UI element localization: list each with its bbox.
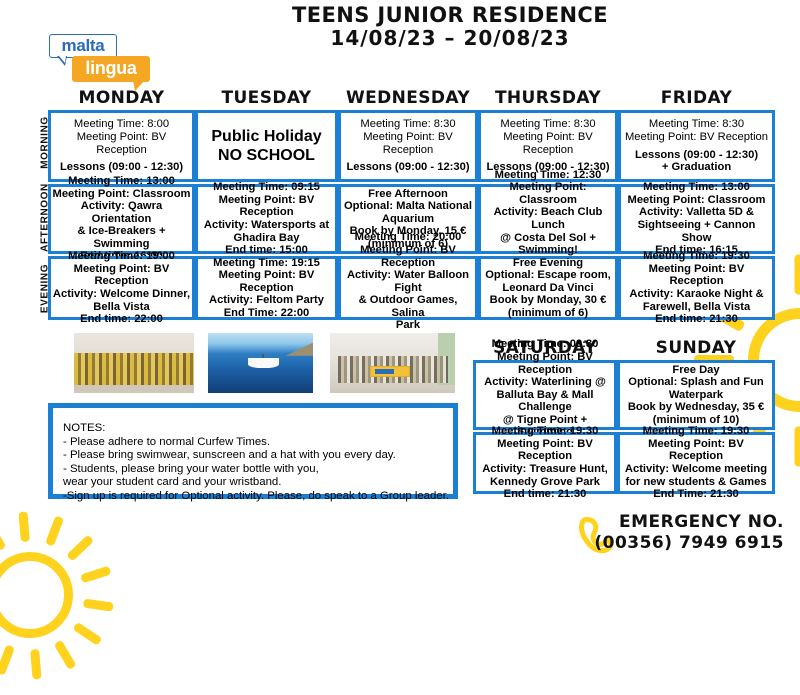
cell-text: Meeting Time: 09:15Meeting Point: BV Rec… xyxy=(198,181,335,257)
cell-saturday-day: Meeting Time: 09:30Meeting Point: BV Rec… xyxy=(473,360,617,430)
cell-line: Lessons (09:00 - 12:30) xyxy=(52,161,191,174)
cell-line: Park xyxy=(342,319,474,332)
cell-line: Meeting Point: BV Reception xyxy=(52,263,191,288)
cell-line: Book by Monday, 30 € xyxy=(482,294,614,307)
cell-line: Book by Wednesday, 35 € xyxy=(621,401,771,414)
notes-line: - Students, please bring your water bott… xyxy=(63,463,453,477)
cell-line: Optional: Malta National xyxy=(342,200,474,213)
cell-line: Meeting Point: BV Reception xyxy=(622,263,771,288)
cell-monday-morning: Meeting Time: 8:00Meeting Point: BV Rece… xyxy=(48,110,195,182)
cell-line: Meeting Time: 19:15 xyxy=(199,257,334,270)
photo-detail xyxy=(370,366,410,378)
cell-line: Swimming! xyxy=(482,244,614,257)
cell-text: Meeting Time: 8:30Meeting Point: BV Rece… xyxy=(621,118,772,173)
cell-line: Activity: Water Balloon Fight xyxy=(342,269,474,294)
cell-line: Activity: Welcome Dinner, xyxy=(52,288,191,301)
cell-line: Meeting Point: BV Reception xyxy=(199,269,334,294)
cell-line: Meeting Point: BV Reception xyxy=(477,351,613,376)
cell-line: Meeting Point: Classroom xyxy=(52,188,191,201)
cell-line: Activity: Watersports at xyxy=(199,219,334,232)
cell-line: @ Costa Del Sol + xyxy=(482,232,614,245)
sun-ray xyxy=(18,511,30,542)
cell-text: Free DayOptional: Splash and FunWaterpar… xyxy=(620,364,772,427)
cell-line: Meeting Time: 8:30 xyxy=(342,118,474,131)
cell-line: End time: 15:00 xyxy=(199,244,334,257)
day-header-wednesday: WEDNESDAY xyxy=(338,88,478,108)
cell-line: End time: 21:30 xyxy=(477,488,613,501)
cell-line: End time: 21:30 xyxy=(622,313,771,326)
cell-line: Activity: Feltom Party xyxy=(199,294,334,307)
cell-line: Meeting Time: 19:30 xyxy=(621,425,771,438)
cell-thursday-evening: Free EveningOptional: Escape room,Leonar… xyxy=(478,256,618,320)
sun-ray xyxy=(795,254,800,294)
cell-line: Meeting Time: 09:15 xyxy=(199,181,334,194)
emergency-label: EMERGENCY NO. xyxy=(594,512,784,533)
cell-line: Meeting Point: Classroom xyxy=(482,181,614,206)
cell-line: Meeting Point: BV Reception xyxy=(199,194,334,219)
cell-line: End time: 22:00 xyxy=(52,313,191,326)
logo-text-lingua: lingua xyxy=(72,56,150,81)
cell-wednesday-morning: Meeting Time: 8:30Meeting Point: BV Rece… xyxy=(338,110,478,182)
cell-line: Meeting Point: BV Reception xyxy=(477,438,613,463)
cell-line: Lessons (09:00 - 12:30) xyxy=(622,149,771,162)
notes-line: -Sign up is required for Optional activi… xyxy=(63,490,453,504)
photo-group-yellow-shirts xyxy=(74,333,194,393)
logo-text-malta: malta xyxy=(50,35,116,57)
photo-group-banner xyxy=(330,333,455,393)
cell-line: Meeting Time: 8:30 xyxy=(622,118,771,131)
cell-text: Meeting Time: 8:30Meeting Point: BV Rece… xyxy=(341,118,475,173)
cell-line: Optional: Escape room, xyxy=(482,269,614,282)
sun-ray xyxy=(0,644,15,675)
sun-ray xyxy=(795,426,800,466)
cell-monday-afternoon: Meeting Time: 13:00Meeting Point: Classr… xyxy=(48,184,195,254)
photo-boat-sea xyxy=(208,333,313,393)
cell-text: Public HolidayNO SCHOOL xyxy=(198,127,335,165)
day-header-monday: MONDAY xyxy=(48,88,195,108)
cell-text: Meeting Time: 19:30Meeting Point: BV Rec… xyxy=(476,425,614,501)
cell-sunday-evening: Meeting Time: 19:30Meeting Point: BV Rec… xyxy=(617,432,775,494)
cell-line: Free Evening xyxy=(482,257,614,270)
cell-text: Meeting Time: 19:15Meeting Point: BV Rec… xyxy=(198,257,335,320)
cell-text: Meeting Time: 19:00Meeting Point: BV Rec… xyxy=(51,250,192,326)
cell-friday-evening: Meeting Time: 19:30Meeting Point: BV Rec… xyxy=(618,256,775,320)
cell-friday-morning: Meeting Time: 8:30Meeting Point: BV Rece… xyxy=(618,110,775,182)
day-header-friday: FRIDAY xyxy=(618,88,775,108)
cell-tuesday-evening: Meeting Time: 19:15Meeting Point: BV Rec… xyxy=(195,256,338,320)
cell-line: Meeting Time: 8:30 xyxy=(482,118,614,131)
notes-content: NOTES: - Please adhere to normal Curfew … xyxy=(53,408,453,504)
cell-line: Activity: Waterlining @ xyxy=(477,376,613,389)
cell-line: for new students & Games xyxy=(621,476,771,489)
cell-text: Meeting Time: 13:00Meeting Point: Classr… xyxy=(621,181,772,257)
cell-text: Meeting Time: 19:30Meeting Point: BV Rec… xyxy=(621,250,772,326)
cell-line: Meeting Point: BV Reception xyxy=(342,131,474,156)
cell-line: + Graduation xyxy=(622,161,771,174)
logo-bubble-malta: malta xyxy=(49,34,117,58)
photo-detail xyxy=(286,343,313,356)
notes-line: - Please adhere to normal Curfew Times. xyxy=(63,436,453,450)
cell-line: Meeting Point: Classroom xyxy=(622,194,771,207)
cell-line: NO SCHOOL xyxy=(199,146,334,165)
cell-line: Aquarium xyxy=(342,213,474,226)
cell-tuesday-morning: Public HolidayNO SCHOOL xyxy=(195,110,338,182)
sun-ray xyxy=(80,565,111,583)
cell-line: Meeting Time: 20:00 xyxy=(342,231,474,244)
cell-line: Meeting Time: 12:30 xyxy=(482,169,614,182)
cell-friday-afternoon: Meeting Time: 13:00Meeting Point: Classr… xyxy=(618,184,775,254)
cell-saturday-evening: Meeting Time: 19:30Meeting Point: BV Rec… xyxy=(473,432,617,494)
day-header-sunday: SUNDAY xyxy=(617,338,775,358)
title-line-1: TEENS JUNIOR RESIDENCE xyxy=(240,4,660,27)
cell-line: Meeting Time: 19:30 xyxy=(477,425,613,438)
title-line-2: 14/08/23 – 20/08/23 xyxy=(240,27,660,50)
sun-ray xyxy=(66,534,94,561)
photo-detail xyxy=(74,353,194,384)
sun-ray xyxy=(30,648,42,679)
cell-line: (minimum of 6) xyxy=(482,307,614,320)
cell-text: Meeting Time: 19:30Meeting Point: BV Rec… xyxy=(620,425,772,501)
cell-line: Optional: Splash and Fun xyxy=(621,376,771,389)
cell-line: Lessons (09:00 - 12:30) xyxy=(342,161,474,174)
cell-line: Free Afternoon xyxy=(342,188,474,201)
cell-line: Public Holiday xyxy=(199,127,334,146)
cell-text: Meeting Time: 20:00Meeting Point: BV Rec… xyxy=(341,231,475,344)
sun-ray xyxy=(54,639,77,669)
cell-line: Meeting Time: 19:00 xyxy=(52,250,191,263)
sun-ray xyxy=(72,621,102,645)
cell-line: Activity: Qawra Orientation xyxy=(52,200,191,225)
malta-lingua-logo: malta lingua xyxy=(45,34,149,86)
cell-line: Free Day xyxy=(621,364,771,377)
cell-line: Meeting Time: 13:00 xyxy=(622,181,771,194)
cell-line: Activity: Valletta 5D & xyxy=(622,206,771,219)
logo-tail-blue-inner xyxy=(59,56,66,63)
photo-detail xyxy=(248,358,280,368)
sun-icon-left xyxy=(0,495,130,695)
cell-line: Leonard Da Vinci xyxy=(482,282,614,295)
cell-tuesday-afternoon: Meeting Time: 09:15Meeting Point: BV Rec… xyxy=(195,184,338,254)
cell-line: Bella Vista xyxy=(52,301,191,314)
day-header-thursday: THURSDAY xyxy=(478,88,618,108)
emergency-number: (00356) 7949 6915 xyxy=(594,533,784,554)
day-header-tuesday: TUESDAY xyxy=(195,88,338,108)
emergency-block: EMERGENCY NO. (00356) 7949 6915 xyxy=(594,512,784,554)
logo-bubble-lingua: lingua xyxy=(72,56,150,82)
cell-line: Activity: Treasure Hunt, xyxy=(477,463,613,476)
cell-wednesday-evening: Meeting Time: 20:00Meeting Point: BV Rec… xyxy=(338,256,478,320)
notes-box: NOTES: - Please adhere to normal Curfew … xyxy=(48,403,458,499)
cell-line: Meeting Point: BV Reception xyxy=(621,438,771,463)
cell-thursday-afternoon: Meeting Time: 12:30Meeting Point: Classr… xyxy=(478,184,618,254)
cell-line: Meeting Point: BV Reception xyxy=(622,131,771,144)
cell-monday-evening: Meeting Time: 19:00Meeting Point: BV Rec… xyxy=(48,256,195,320)
cell-line: & Ice-Breakers + Swimming xyxy=(52,225,191,250)
cell-line: Meeting Time: 13:00 xyxy=(52,175,191,188)
cell-text: Meeting Time: 12:30Meeting Point: Classr… xyxy=(481,169,615,270)
cell-line: Farewell, Bella Vista xyxy=(622,301,771,314)
sun-ray xyxy=(0,520,6,550)
cell-line: Activity: Welcome meeting xyxy=(621,463,771,476)
cell-line: Meeting Time: 09:30 xyxy=(477,338,613,351)
cell-line: & Outdoor Games, Salina xyxy=(342,294,474,319)
cell-text: Free EveningOptional: Escape room,Leonar… xyxy=(481,257,615,320)
photo-detail xyxy=(74,385,194,393)
cell-line: Meeting Point: BV Reception xyxy=(342,244,474,269)
cell-line: Balluta Bay & Mall Challenge xyxy=(477,389,613,414)
cell-line: Sightseeing + Cannon Show xyxy=(622,219,771,244)
cell-line: Meeting Time: 19:30 xyxy=(622,250,771,263)
cell-line: Kennedy Grove Park xyxy=(477,476,613,489)
cell-line: Meeting Point: BV Reception xyxy=(52,131,191,156)
cell-line: End Time: 21:30 xyxy=(621,488,771,501)
cell-text: Meeting Time: 8:00Meeting Point: BV Rece… xyxy=(51,118,192,173)
sun-ray xyxy=(83,598,114,611)
cell-line: Activity: Karaoke Night & xyxy=(622,288,771,301)
sun-core xyxy=(0,552,73,638)
notes-line: - Please bring swimwear, sunscreen and a… xyxy=(63,449,453,463)
cell-text: Meeting Time: 8:30Meeting Point: BV Rece… xyxy=(481,118,615,173)
cell-line: End Time: 22:00 xyxy=(199,307,334,320)
cell-sunday-day: Free DayOptional: Splash and FunWaterpar… xyxy=(617,360,775,430)
page-title: TEENS JUNIOR RESIDENCE 14/08/23 – 20/08/… xyxy=(240,4,660,50)
cell-line: Waterpark xyxy=(621,389,771,402)
cell-line: Activity: Beach Club Lunch xyxy=(482,206,614,231)
cell-line: Ghadira Bay xyxy=(199,232,334,245)
notes-line: wear your student card and your wristban… xyxy=(63,476,453,490)
cell-line: Meeting Time: 8:00 xyxy=(52,118,191,131)
cell-line: Meeting Point: BV Reception xyxy=(482,131,614,156)
notes-heading: NOTES: xyxy=(63,422,453,436)
poster-root: malta lingua TEENS JUNIOR RESIDENCE 14/0… xyxy=(0,0,800,618)
sun-ray xyxy=(45,515,64,546)
